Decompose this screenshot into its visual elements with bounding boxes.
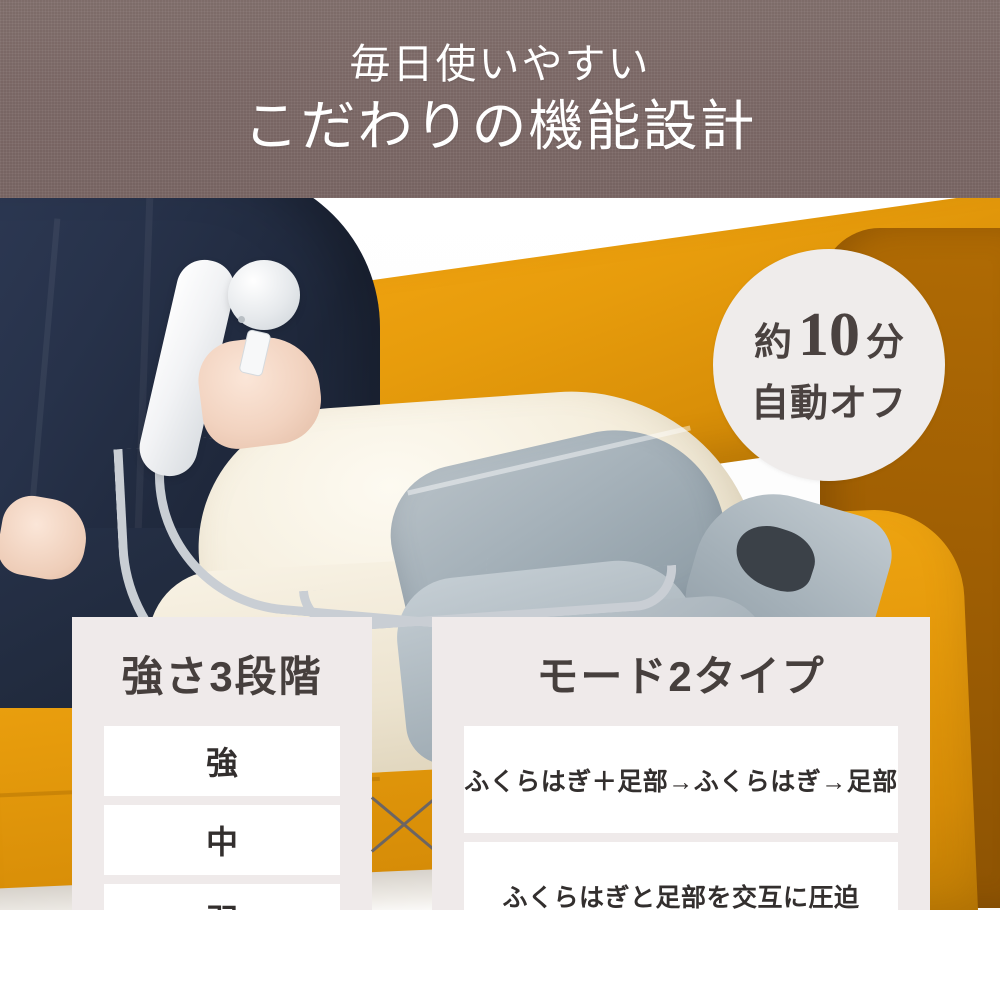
- bottom-whitespace: [0, 910, 1000, 1000]
- controller-indicator-icon: [238, 316, 245, 323]
- badge-number: 10: [798, 304, 860, 366]
- list-item[interactable]: 中: [104, 805, 340, 875]
- auto-off-label: 自動オフ: [751, 372, 907, 427]
- auto-off-duration: 約 10 分: [754, 304, 904, 366]
- auto-off-badge: 約 10 分 自動オフ: [713, 249, 945, 481]
- mode-type-label: ふくらはぎと足部を交互に圧迫: [502, 878, 859, 914]
- page-header-banner: 毎日使いやすい こだわりの機能設計: [0, 0, 1000, 198]
- product-feature-page: 毎日使いやすい こだわりの機能設計 約: [0, 0, 1000, 1000]
- badge-unit-label: 分: [866, 311, 904, 366]
- page-title: こだわりの機能設計: [243, 98, 756, 156]
- strength-level-label: 中: [206, 817, 238, 863]
- mode-type-label: ふくらはぎ＋足部→ふくらはぎ→足部: [464, 762, 898, 798]
- mode-panel-title: モード2タイプ: [536, 643, 825, 704]
- badge-approx-label: 約: [754, 311, 792, 366]
- header-subtitle: 毎日使いやすい: [350, 43, 651, 86]
- list-item[interactable]: ふくらはぎ＋足部→ふくらはぎ→足部: [464, 726, 898, 833]
- strength-level-label: 強: [206, 738, 238, 784]
- strength-panel-title: 強さ3段階: [121, 643, 322, 704]
- list-item[interactable]: 強: [104, 726, 340, 796]
